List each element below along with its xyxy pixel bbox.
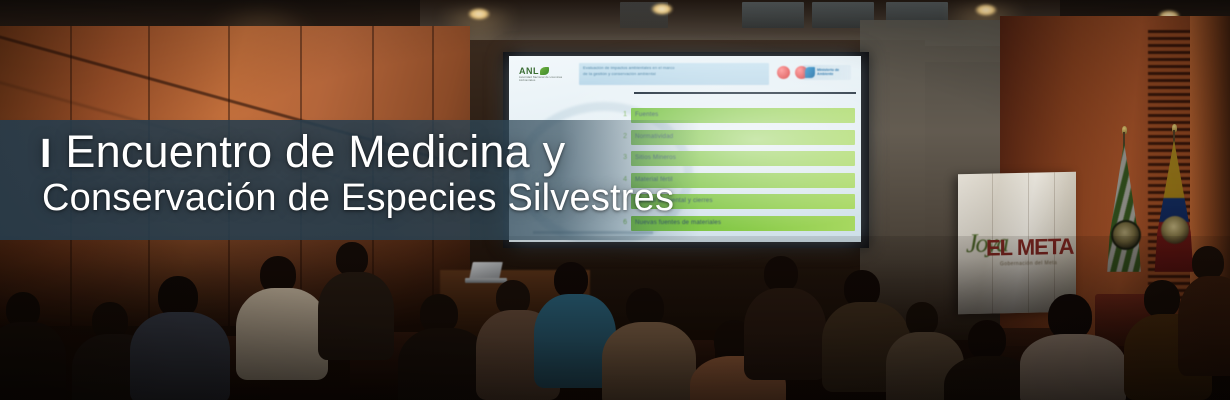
slide-title-bar: Evaluación de impactos ambientales en el… <box>579 63 769 85</box>
person-body <box>1178 276 1230 376</box>
person-body <box>318 272 394 360</box>
person-body <box>236 288 328 380</box>
page-title: I Encuentro de Medicina y Conservación d… <box>40 126 690 221</box>
anla-logo-subtitle: Autoridad Nacional de Licencias Ambienta… <box>519 76 565 82</box>
person-head <box>1144 280 1180 318</box>
slide-header: ANL Autoridad Nacional de Licencias Ambi… <box>515 60 855 88</box>
person-head <box>906 302 938 336</box>
person-head <box>1192 246 1224 280</box>
ceiling-light <box>651 3 673 15</box>
ceiling-panel <box>742 2 804 28</box>
person-body <box>744 288 826 380</box>
ministry-brand-logo: Ministerio de Ambiente <box>803 65 851 80</box>
slide-divider <box>634 92 856 94</box>
person-body <box>130 312 230 400</box>
title-line-2: Conservación de Especies Silvestres <box>42 175 690 221</box>
slide-header-line-2: de la gestión y conservación ambiental <box>583 71 765 77</box>
brand-mark-icon <box>805 67 815 78</box>
audience <box>0 236 1230 400</box>
title-line-1: I Encuentro de Medicina y <box>40 126 690 179</box>
person-head <box>764 256 798 292</box>
person-body <box>1020 334 1126 400</box>
title-roman-numeral: I <box>40 127 51 179</box>
leaf-icon <box>540 67 549 75</box>
anla-logo: ANL Autoridad Nacional de Licencias Ambi… <box>519 66 565 83</box>
person-body <box>602 322 696 400</box>
slide-item-number: 1 <box>617 111 627 118</box>
slide-item-label: Fuentes <box>635 111 658 118</box>
anla-logo-text: ANL <box>519 66 539 76</box>
person-head <box>968 320 1006 360</box>
person-body <box>0 322 66 400</box>
slide-badge-icon <box>777 66 790 79</box>
title-line-1-text: Encuentro de Medicina y <box>65 126 565 178</box>
person-head <box>554 262 588 298</box>
hero-banner: ANL Autoridad Nacional de Licencias Ambi… <box>0 0 1230 400</box>
ministry-brand-name: Ministerio de Ambiente <box>817 68 851 77</box>
person-head <box>336 242 368 276</box>
